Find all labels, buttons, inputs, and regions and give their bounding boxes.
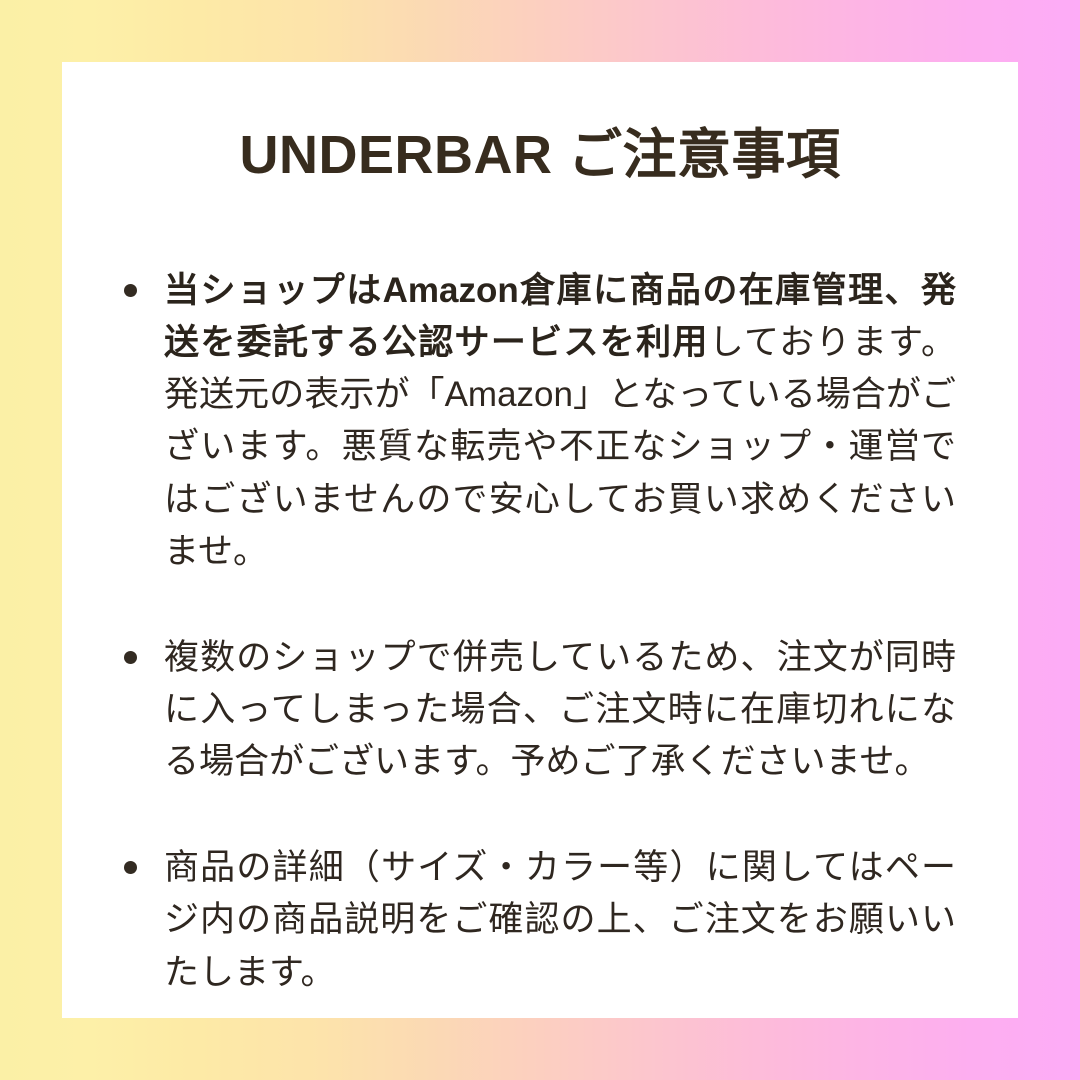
list-item: 当ショップはAmazon倉庫に商品の在庫管理、発送を委託する公認サービスを利用し… bbox=[124, 265, 956, 578]
notice-rest: 商品の詳細（サイズ・カラー等）に関してはページ内の商品説明をご確認の上、ご注文を… bbox=[164, 848, 956, 991]
list-item: 商品の詳細（サイズ・カラー等）に関してはページ内の商品説明をご確認の上、ご注文を… bbox=[124, 842, 956, 998]
notice-list: 当ショップはAmazon倉庫に商品の在庫管理、発送を委託する公認サービスを利用し… bbox=[124, 265, 956, 999]
notice-text: 複数のショップで併売しているため、注文が同時に入ってしまった場合、ご注文時に在庫… bbox=[164, 632, 956, 788]
bullet-dot-icon bbox=[124, 861, 137, 874]
bullet-dot-icon bbox=[124, 284, 137, 297]
notice-graphic-canvas: UNDERBAR ご注意事項 当ショップはAmazon倉庫に商品の在庫管理、発送… bbox=[0, 0, 1080, 1080]
notice-text: 当ショップはAmazon倉庫に商品の在庫管理、発送を委託する公認サービスを利用し… bbox=[164, 265, 956, 578]
bullet-dot-icon bbox=[124, 651, 137, 664]
notice-rest: 複数のショップで併売しているため、注文が同時に入ってしまった場合、ご注文時に在庫… bbox=[164, 638, 956, 781]
page-title: UNDERBAR ご注意事項 bbox=[62, 110, 1018, 189]
notice-text: 商品の詳細（サイズ・カラー等）に関してはページ内の商品説明をご確認の上、ご注文を… bbox=[164, 842, 956, 998]
list-item: 複数のショップで併売しているため、注文が同時に入ってしまった場合、ご注文時に在庫… bbox=[124, 632, 956, 788]
notice-card: UNDERBAR ご注意事項 当ショップはAmazon倉庫に商品の在庫管理、発送… bbox=[62, 62, 1018, 1018]
